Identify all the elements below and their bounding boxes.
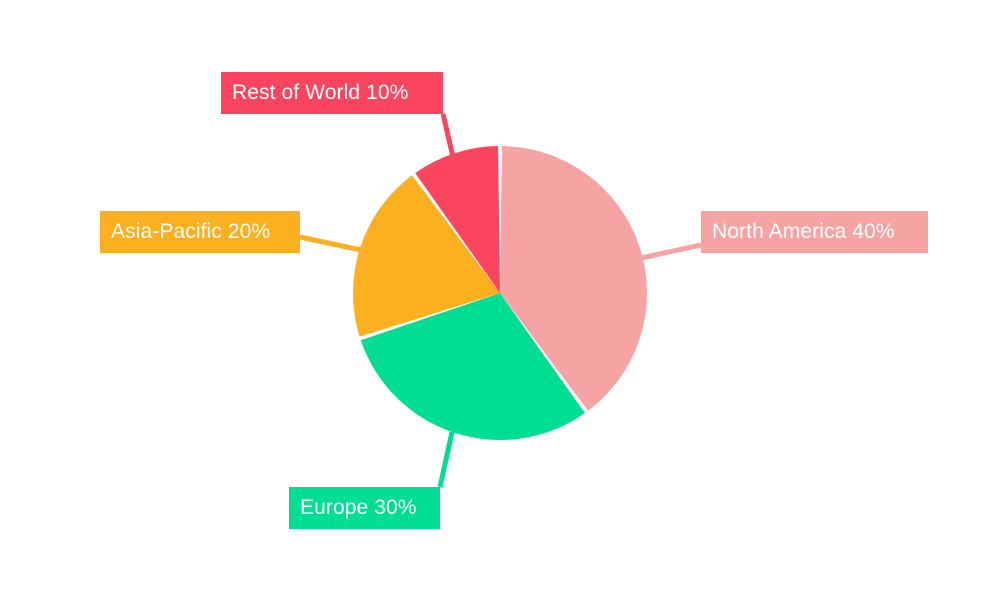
pie-chart-canvas bbox=[0, 0, 1000, 600]
pie-label-north-america: North America 40% bbox=[701, 211, 928, 253]
pie-chart-figure: North America 40% Europe 30% Asia-Pacifi… bbox=[0, 0, 1000, 600]
pie-label-asia-pacific-text: Asia-Pacific 20% bbox=[111, 211, 270, 253]
pie-label-asia-pacific: Asia-Pacific 20% bbox=[100, 211, 300, 253]
pie-label-rest-of-world: Rest of World 10% bbox=[221, 72, 443, 114]
leader-line-asia-pacific bbox=[300, 237, 361, 250]
pie-slices bbox=[353, 146, 647, 440]
pie-label-europe: Europe 30% bbox=[289, 487, 440, 529]
pie-label-north-america-text: North America 40% bbox=[712, 211, 895, 253]
pie-label-europe-text: Europe 30% bbox=[300, 487, 417, 529]
leader-line-europe bbox=[440, 432, 452, 487]
pie-label-rest-of-world-text: Rest of World 10% bbox=[232, 72, 408, 114]
leader-line-north-america bbox=[641, 245, 701, 258]
